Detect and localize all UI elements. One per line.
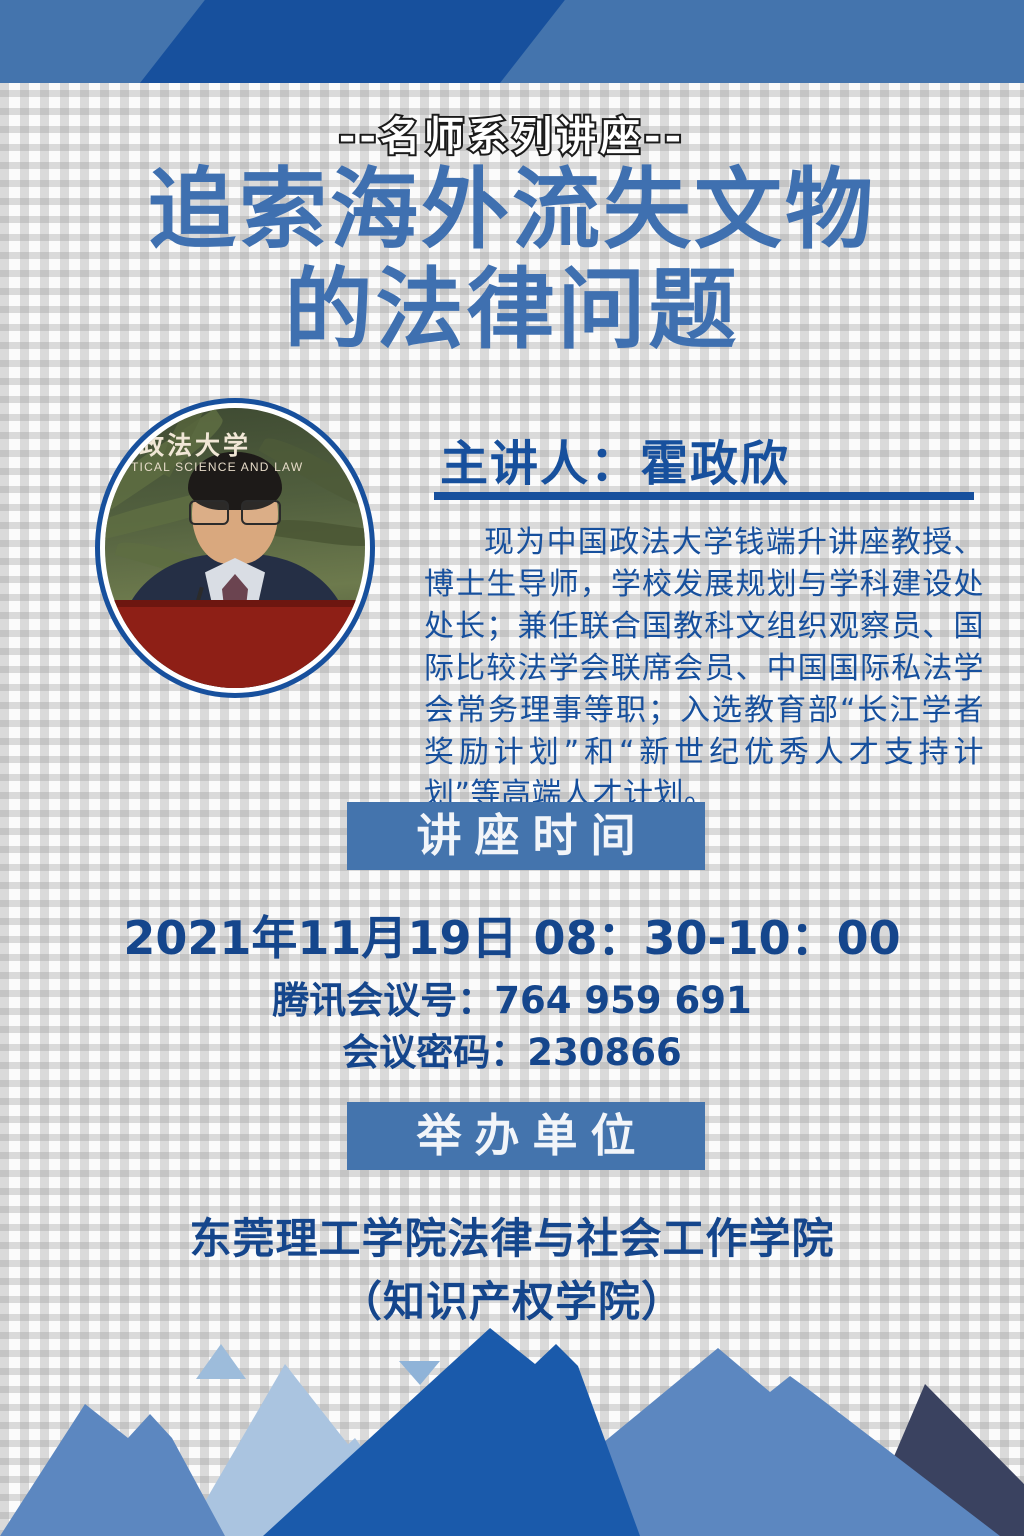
speaker-name: 主讲人：霍政欣 (440, 424, 790, 494)
poster-canvas: --名师系列讲座-- 追索海外流失文物 的法律问题 国政法大学 TICAL SC… (0, 0, 1024, 1536)
meeting-id: 腾讯会议号：764 959 691 (0, 970, 1024, 1024)
glasses-icon (188, 500, 282, 522)
podium (105, 600, 365, 688)
speaker-divider (434, 492, 974, 500)
organizer-line-1: 东莞理工学院法律与社会工作学院 (0, 1205, 1024, 1266)
meeting-password: 会议密码：230866 (0, 1022, 1024, 1076)
series-tag: --名师系列讲座-- (0, 104, 1024, 162)
speaker-photo: 国政法大学 TICAL SCIENCE AND LAW (95, 398, 375, 698)
organizer-line-2: （知识产权学院） (0, 1268, 1024, 1329)
speaker-photo-image: 国政法大学 TICAL SCIENCE AND LAW (105, 408, 365, 688)
floating-triangle-up-icon (196, 1344, 246, 1379)
mountain-mid-left (0, 1404, 225, 1536)
title-line-1: 追索海外流失文物 (148, 158, 876, 261)
title-line-2: 的法律问题 (0, 260, 1024, 360)
podium-english-text: TICAL SCIENCE AND LAW (131, 460, 303, 474)
header-banner (0, 0, 1024, 83)
podium-chinese-text: 国政法大学 (111, 426, 251, 462)
section-heading-organizer: 举办单位 (347, 1102, 705, 1170)
lecture-datetime: 2021年11月19日 08：30-10：00 (0, 902, 1024, 968)
section-heading-time: 讲座时间 (347, 802, 705, 870)
header-parallelogram-shape (140, 0, 565, 83)
speaker-biography: 现为中国政法大学钱端升讲座教授、博士生导师，学校发展规划与学科建设处处长；兼任联… (424, 522, 984, 816)
page-title: 追索海外流失文物 的法律问题 (0, 160, 1024, 361)
mountain-decoration (0, 1326, 1024, 1536)
podium-edge (105, 600, 365, 607)
